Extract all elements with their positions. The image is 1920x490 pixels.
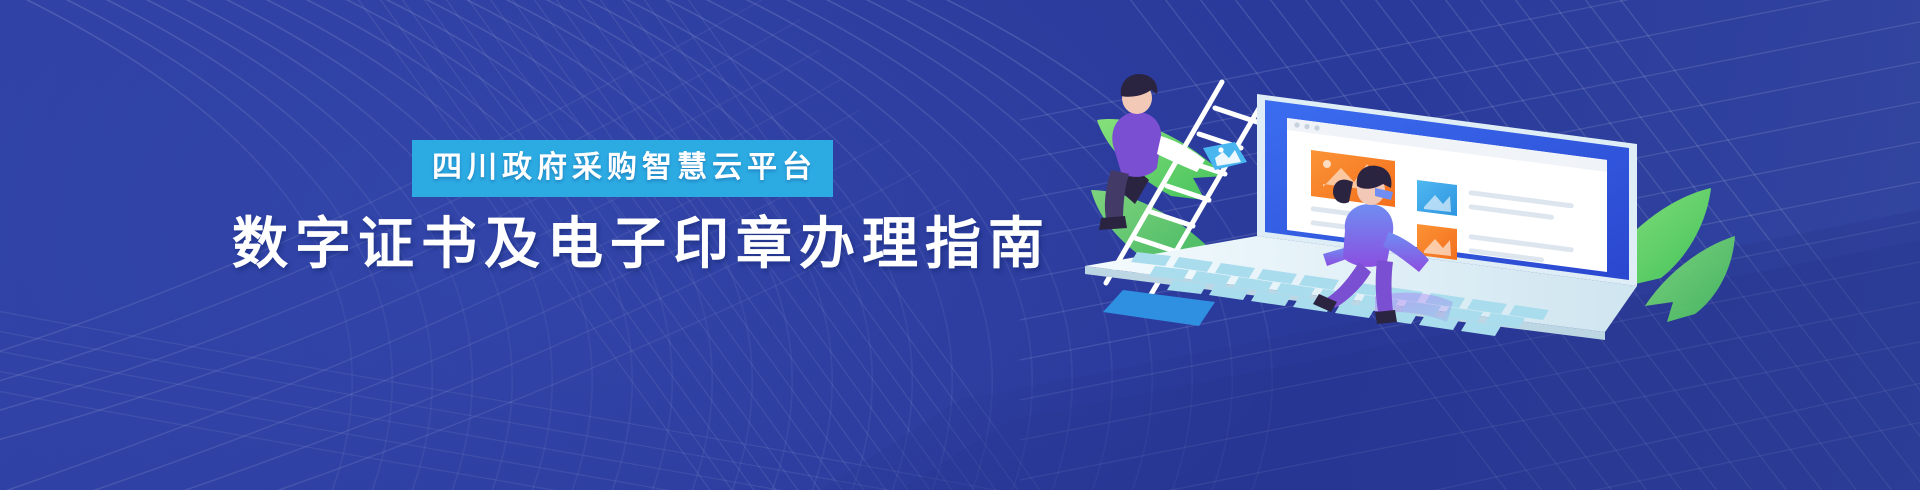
subtitle-badge-wrap: 四川政府采购智慧云平台 [412,140,1092,197]
promo-banner: 四川政府采购智慧云平台 数字证书及电子印章办理指南 [0,0,1920,490]
isometric-laptop-illustration [1075,40,1755,340]
platform-name-badge: 四川政府采购智慧云平台 [412,140,833,197]
page-title: 数字证书及电子印章办理指南 [232,214,1092,274]
banner-text-block: 四川政府采购智慧云平台 数字证书及电子印章办理指南 [232,140,1092,274]
